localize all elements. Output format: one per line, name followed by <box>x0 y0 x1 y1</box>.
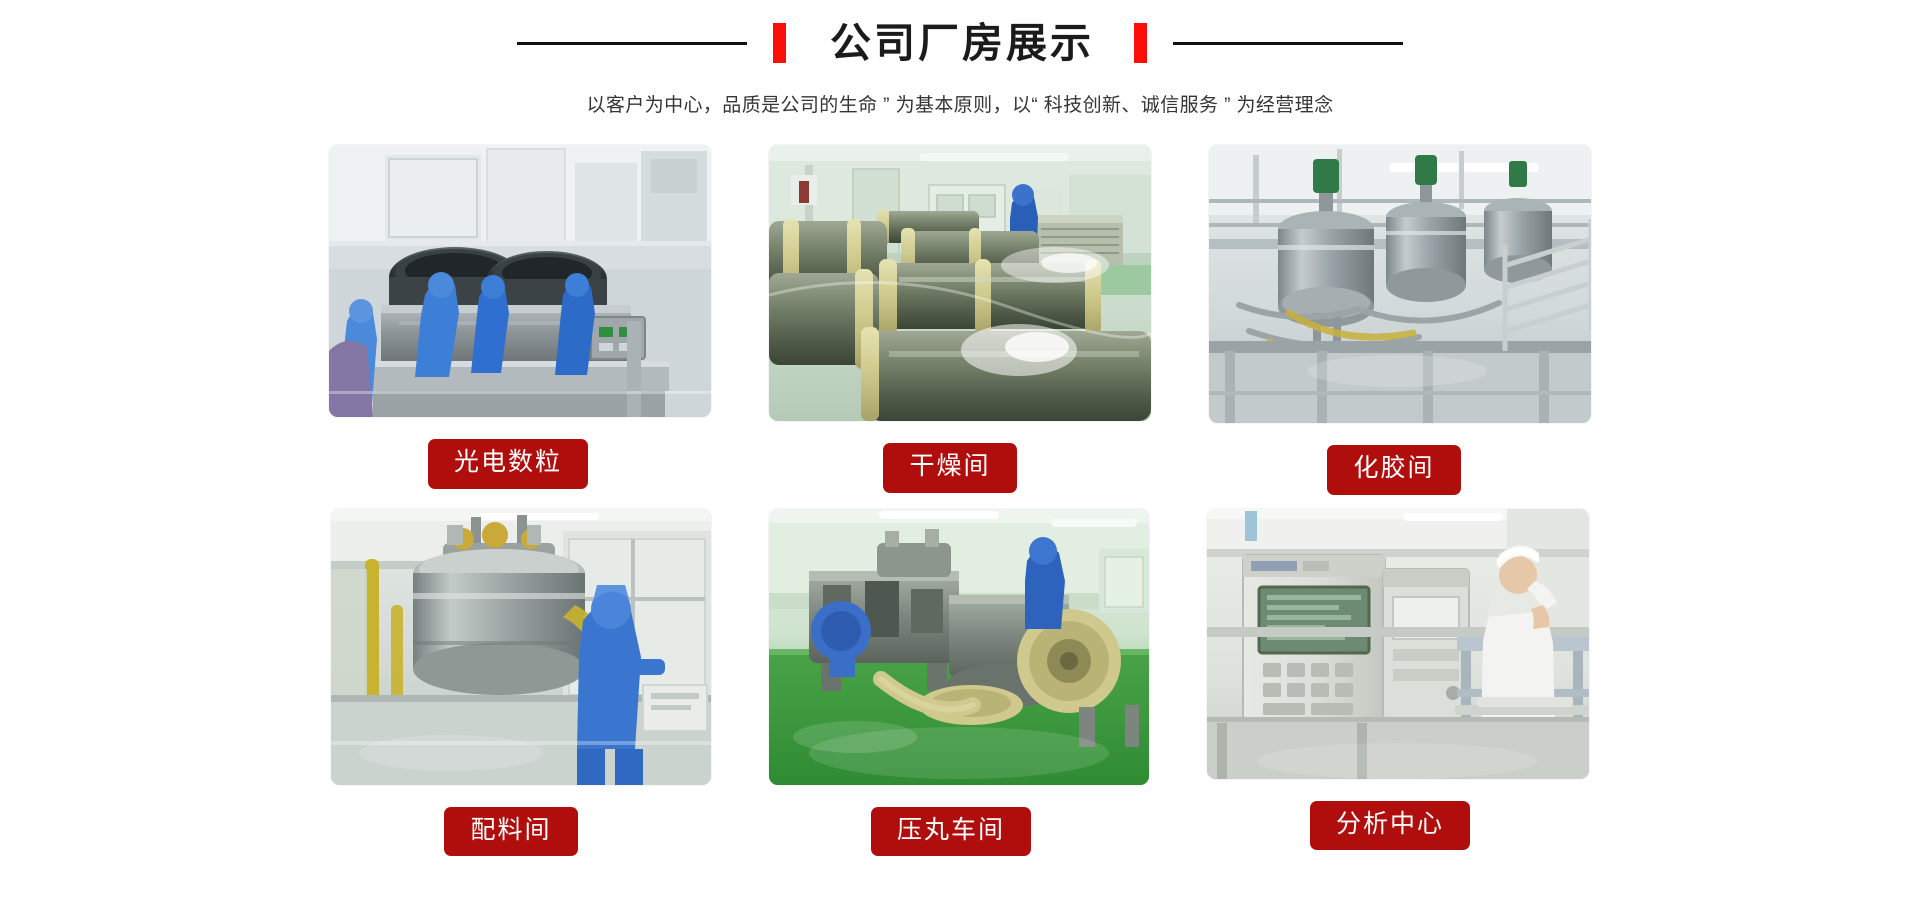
page-title: 公司厂房展示 <box>830 23 1094 64</box>
gallery-item: 压丸车间 <box>769 509 1149 857</box>
photo-fenxizhongxin <box>1207 509 1589 779</box>
photo-yawanchejian <box>769 509 1149 785</box>
header-tick-right-icon <box>1134 23 1147 63</box>
photo-ganzaojian <box>769 145 1151 421</box>
gallery-row: 光电数粒 <box>345 145 1575 495</box>
factory-showcase-page: 公司厂房展示 以客户为中心，品质是公司的生命 ” 为基本原则，以“ 科技创新、诚… <box>0 0 1920 909</box>
header-rule-right <box>1173 42 1403 45</box>
gallery-row: 配料间 <box>345 509 1575 857</box>
caption-button-ganzaojian[interactable]: 干燥间 <box>883 443 1016 493</box>
title-row: 公司厂房展示 <box>517 14 1403 72</box>
caption-button-yawanchejian[interactable]: 压丸车间 <box>871 807 1031 857</box>
gallery-item: 分析中心 <box>1207 509 1589 851</box>
header-tick-left-icon <box>773 23 786 63</box>
gallery-item: 配料间 <box>331 509 711 857</box>
gallery-item: 光电数粒 <box>329 145 711 489</box>
gallery-item: 化胶间 <box>1209 145 1591 495</box>
caption-button-huajiaojian[interactable]: 化胶间 <box>1327 445 1460 495</box>
page-subtitle: 以客户为中心，品质是公司的生命 ” 为基本原则，以“ 科技创新、诚信服务 ” 为… <box>587 90 1334 117</box>
header-rule-left <box>517 42 747 45</box>
caption-button-guangdianshuli[interactable]: 光电数粒 <box>428 439 588 489</box>
caption-button-peiliaojian[interactable]: 配料间 <box>444 807 577 857</box>
gallery-item: 干燥间 <box>769 145 1151 493</box>
photo-huajiaojian <box>1209 145 1591 423</box>
photo-guangdianshuli <box>329 145 711 417</box>
photo-peiliaojian <box>331 509 711 785</box>
factory-gallery: 光电数粒 <box>0 145 1920 856</box>
caption-button-fenxizhongxin[interactable]: 分析中心 <box>1310 801 1470 851</box>
section-header: 公司厂房展示 以客户为中心，品质是公司的生命 ” 为基本原则，以“ 科技创新、诚… <box>0 0 1920 117</box>
